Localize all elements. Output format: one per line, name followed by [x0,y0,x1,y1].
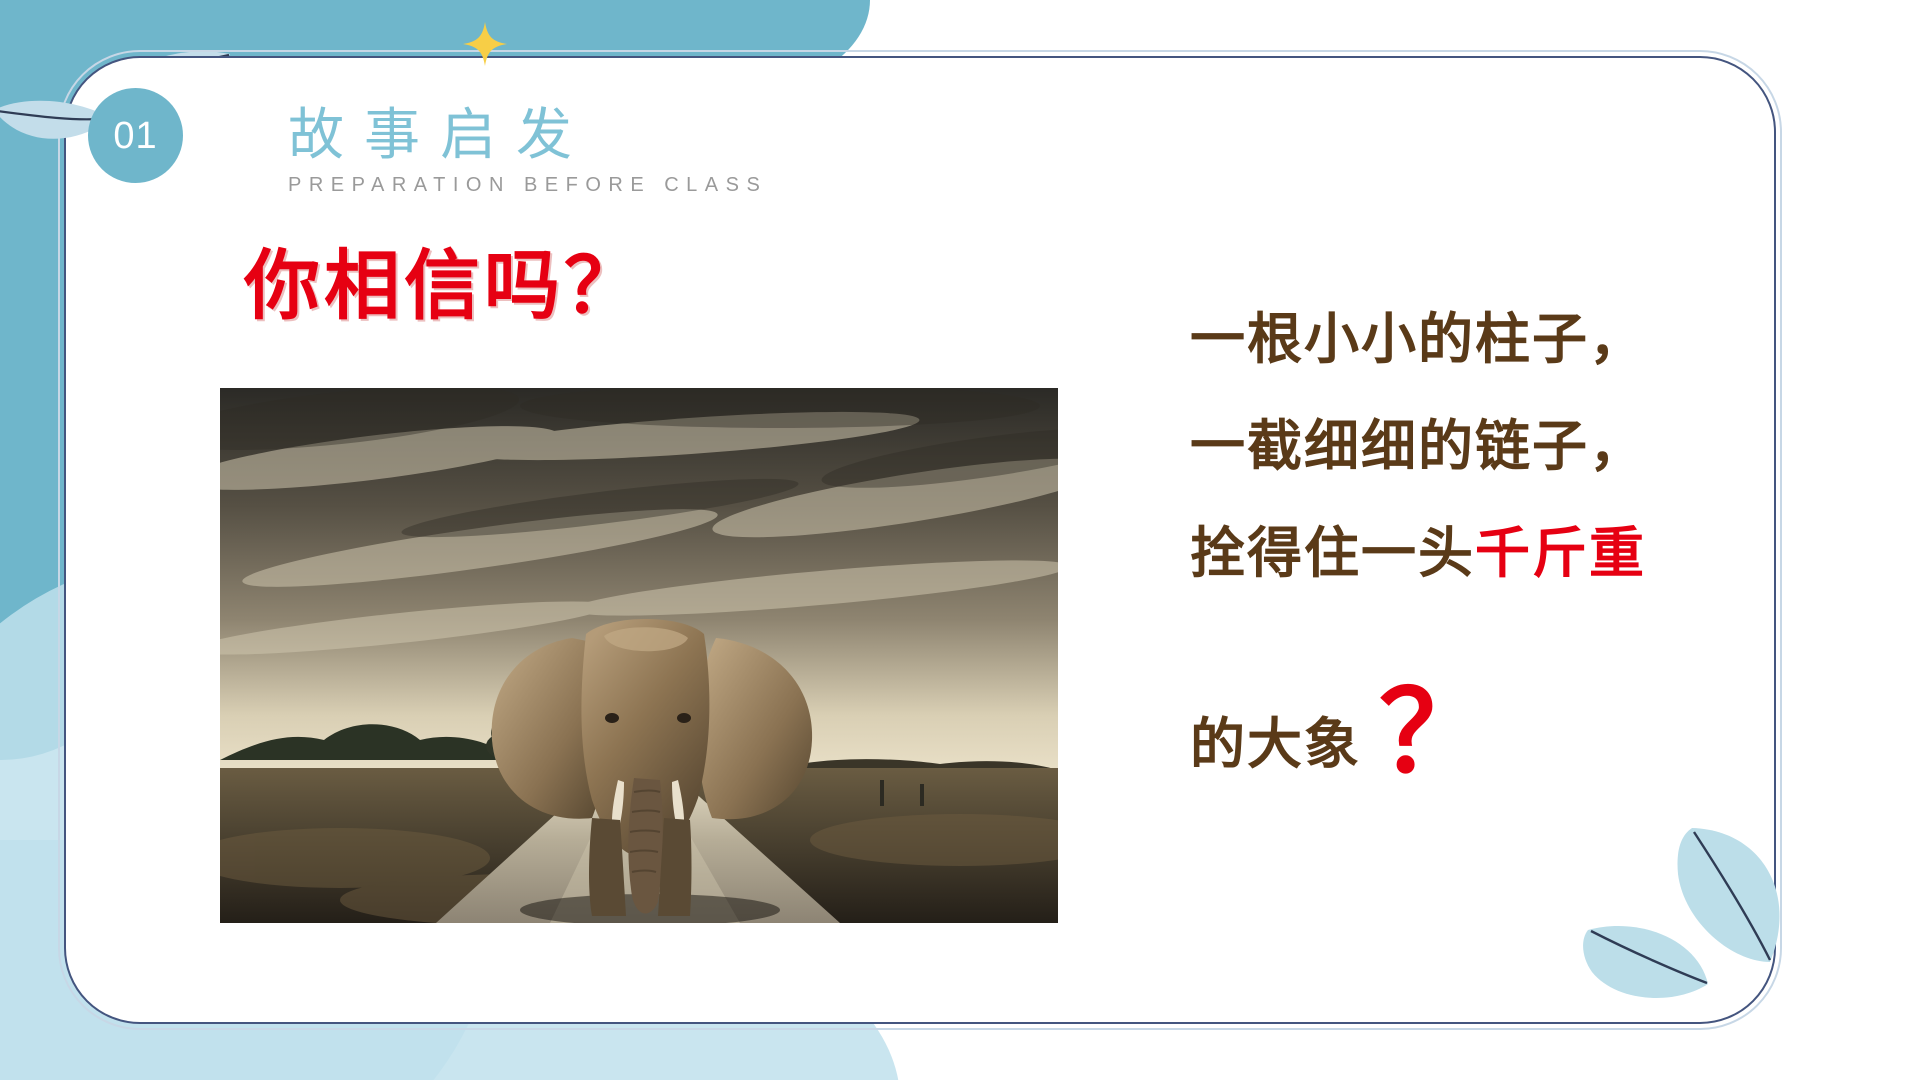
leaf-icon [1583,926,1708,998]
question-mark: ？ [1379,688,1493,778]
headline-question: 你相信吗？ [244,248,644,324]
story-line-3-prefix: 拴得住一头 [1190,520,1475,585]
page-title: 故事启发 [288,106,767,166]
leaf-icon [1678,828,1780,962]
leaf-decoration-group [1566,812,1866,1062]
section-number-label: 01 [113,117,157,155]
story-line-3-highlight: 千斤重 [1475,520,1646,585]
page-subtitle: PREPARATION BEFORE CLASS [288,174,767,197]
elephant-photo [220,388,1058,923]
story-line-4-text: 的大象 [1190,690,1361,797]
story-line-3: 拴得住一头千斤重 [1190,499,1750,606]
elephant-photo-graphic [220,388,1058,923]
story-text-block: 一根小小的柱子， 一截细细的链子， 拴得住一头千斤重 的大象 ？ [1190,285,1750,797]
section-number-badge: 01 [88,88,183,183]
sparkle-icon [463,22,507,66]
story-line-4: 的大象 ？ [1190,680,1750,797]
title-block: 故事启发 PREPARATION BEFORE CLASS [288,106,767,197]
story-line-1: 一根小小的柱子， [1190,285,1750,392]
story-line-2: 一截细细的链子， [1190,392,1750,499]
slide-canvas: 01 故事启发 PREPARATION BEFORE CLASS 你相信吗？ [0,0,1920,1080]
